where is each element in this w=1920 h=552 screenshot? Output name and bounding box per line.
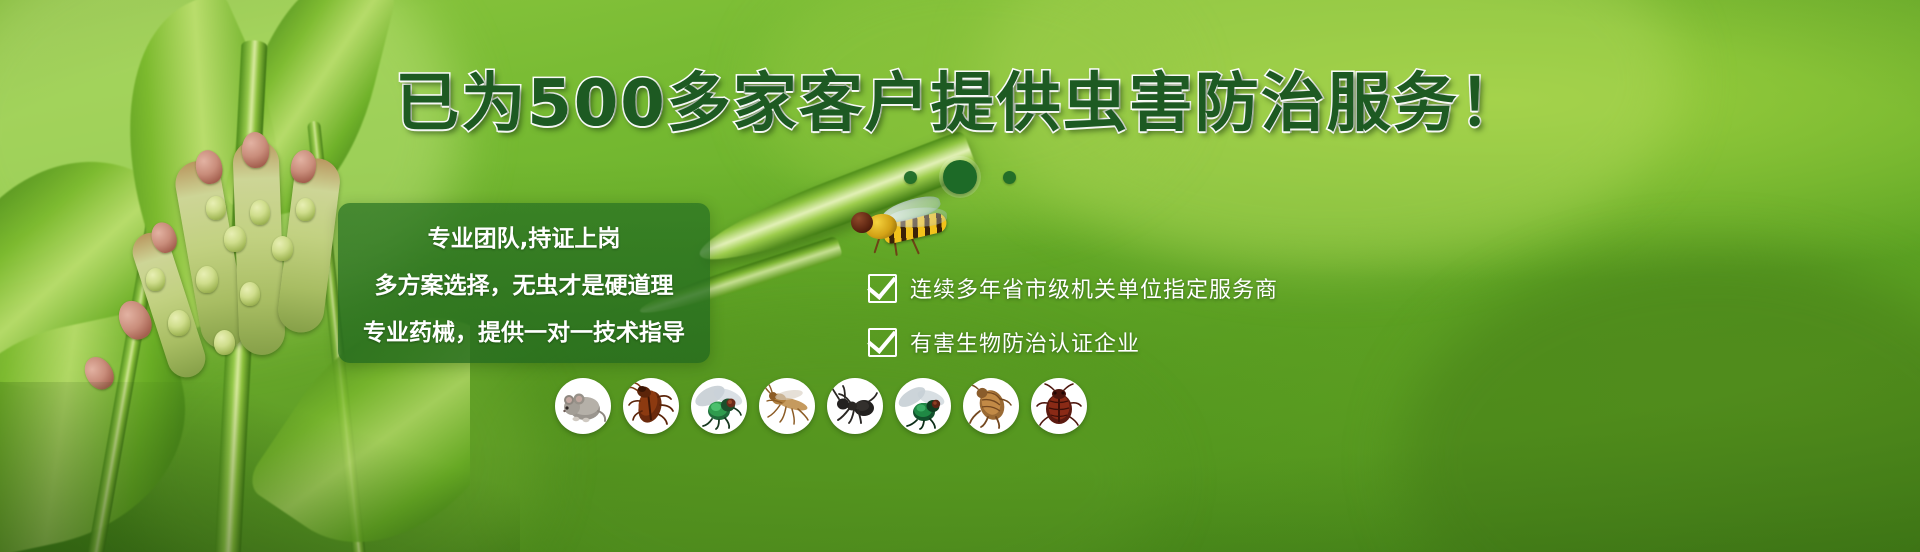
pest-icon-bedbug[interactable]: [1031, 378, 1087, 434]
feature-item-certified-supplier: 连续多年省市级机关单位指定服务商: [868, 272, 1278, 304]
flea-icon: [966, 381, 1016, 431]
plant-bud: [224, 226, 246, 252]
slogan-line-2: 多方案选择，无虫才是硬道理: [375, 266, 674, 300]
slogan-line-1: 专业团队,持证上岗: [428, 219, 621, 253]
plant-bud: [206, 196, 226, 220]
slogan-line-3: 专业药械，提供一对一技术指导: [363, 313, 685, 347]
ant-icon: [830, 381, 880, 431]
plant-bud: [250, 200, 270, 225]
pest-icon-blowfly[interactable]: [895, 378, 951, 434]
pest-control-hero-banner: 已为500多家客户提供虫害防治服务！ 专业团队,持证上岗 多方案选择，无虫才是硬…: [0, 0, 1920, 552]
plant-bud: [214, 330, 235, 355]
cockroach-icon: [626, 381, 676, 431]
mouse-icon: [558, 381, 608, 431]
fly-icon: [694, 381, 744, 431]
pest-icon-mosquito[interactable]: [759, 378, 815, 434]
plant-bud: [146, 268, 165, 291]
checkbox-checked-icon: [868, 328, 897, 357]
plant-bud: [296, 198, 315, 221]
pest-icon-ant[interactable]: [827, 378, 883, 434]
feature-label: 连续多年省市级机关单位指定服务商: [910, 272, 1278, 304]
plant-bud: [168, 310, 190, 336]
pest-icon-mouse[interactable]: [555, 378, 611, 434]
blowfly-icon: [898, 381, 948, 431]
plant-bud: [196, 266, 218, 293]
plant-bud: [272, 236, 293, 261]
pest-icon-cockroach[interactable]: [623, 378, 679, 434]
feature-item-certified-enterprise: 有害生物防治认证企业: [868, 326, 1278, 358]
hoverfly-insect: [845, 196, 965, 258]
dot-small-right-icon: [1003, 171, 1016, 184]
photo-corner-shadow: [0, 382, 520, 552]
feature-list: 连续多年省市级机关单位指定服务商 有害生物防治认证企业: [868, 272, 1278, 358]
dot-large-center-icon: [943, 160, 977, 194]
checkbox-checked-icon: [868, 274, 897, 303]
pest-icon-fly[interactable]: [691, 378, 747, 434]
pest-icon-flea[interactable]: [963, 378, 1019, 434]
decorative-dots: [0, 160, 1920, 194]
slogan-panel: 专业团队,持证上岗 多方案选择，无虫才是硬道理 专业药械，提供一对一技术指导: [338, 203, 710, 363]
dot-small-left-icon: [904, 171, 917, 184]
bedbug-icon: [1034, 381, 1084, 431]
hoverfly-head: [851, 212, 873, 233]
page-title: 已为500多家客户提供虫害防治服务！: [0, 72, 1920, 136]
plant-bud: [240, 282, 260, 306]
feature-label: 有害生物防治认证企业: [910, 326, 1140, 358]
pest-icon-row: [555, 378, 1087, 434]
mosquito-icon: [762, 381, 812, 431]
